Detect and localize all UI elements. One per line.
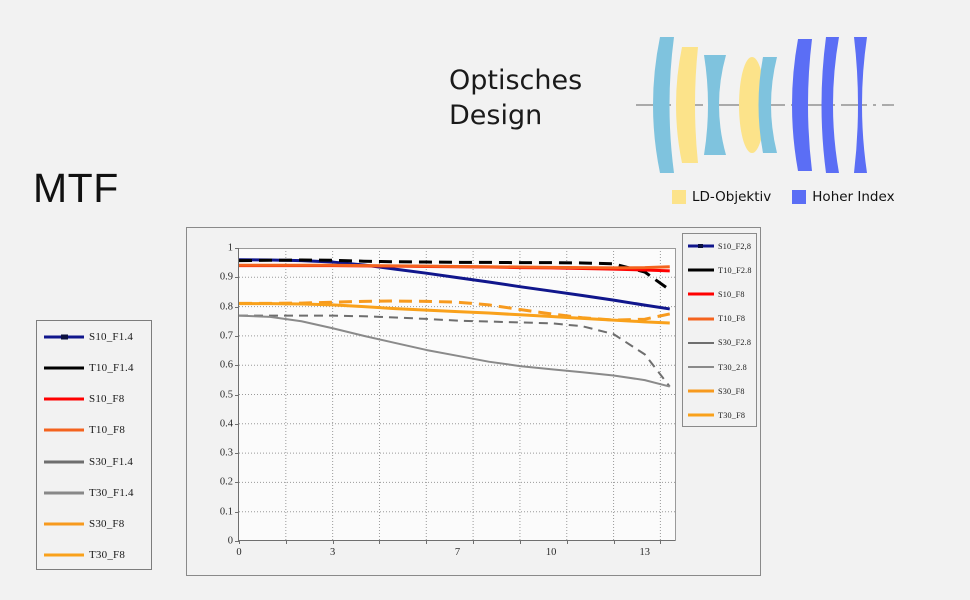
y-axis-tick-label: 0.1 [220, 506, 233, 517]
y-axis-tick-label: 0.3 [220, 448, 233, 459]
y-axis-tick-mark [235, 453, 239, 454]
legend-label: S10_F8 [89, 393, 124, 405]
y-axis-tick-mark [235, 395, 239, 396]
legend-chart-item[interactable]: S30_F8 [683, 379, 756, 403]
x-axis-tick-mark [614, 540, 615, 544]
series-t10-f8 [239, 265, 670, 268]
mtf-plot-area: 00.10.20.30.40.50.60.70.80.910371013 [238, 248, 675, 541]
slide-canvas: MTF OptischesDesign LD-Objektiv Hoher [0, 0, 970, 600]
legend-left-item[interactable]: S10_F1.4 [37, 321, 151, 352]
x-axis-tick-mark [239, 540, 240, 544]
legend-left-item[interactable]: S30_F1.4 [37, 446, 151, 477]
legend-label: T30_F8 [718, 411, 745, 420]
legend-left-item[interactable]: S30_F8 [37, 509, 151, 540]
lens-element-7 [822, 37, 840, 173]
x-axis-tick-label: 0 [236, 547, 241, 558]
grid-horizontal [239, 248, 676, 512]
y-axis-tick-mark [235, 365, 239, 366]
mtf-plot-wrapper: 00.10.20.30.40.50.60.70.80.910371013 [238, 248, 675, 541]
y-axis-tick-label: 1 [228, 243, 233, 254]
legend-label: T30_F1.4 [89, 487, 134, 499]
x-axis-tick-mark [567, 540, 568, 544]
legend-chart-item[interactable]: T10_F8 [683, 307, 756, 331]
legend-left-item[interactable]: T10_F8 [37, 415, 151, 446]
x-axis-tick-label: 3 [330, 547, 335, 558]
x-axis-tick-label: 13 [640, 547, 651, 558]
optical-lens-diagram [630, 25, 900, 185]
y-axis-tick-mark [235, 307, 239, 308]
x-axis-tick-mark [286, 540, 287, 544]
y-axis-tick-label: 0.4 [220, 418, 233, 429]
y-axis-tick-mark [235, 248, 239, 249]
legend-label: S30_F8 [89, 518, 124, 530]
x-axis-tick-mark [379, 540, 380, 544]
y-axis-tick-label: 0.5 [220, 389, 233, 400]
x-axis-tick-mark [473, 540, 474, 544]
legend-label: T30_F8 [89, 549, 125, 561]
mtf-legend-box-chart: S10_F2,8T10_F2.8S10_F8T10_F8S30_F2.8T30_… [682, 233, 757, 427]
legend-marker [61, 334, 68, 339]
legend-left-item[interactable]: T30_F1.4 [37, 477, 151, 508]
legend-label: T10_F8 [718, 314, 745, 323]
mtf-heading: MTF [33, 168, 119, 209]
legend-label: T10_F2.8 [718, 266, 752, 275]
legend-label: S30_F1.4 [89, 456, 133, 468]
legend-chart-item[interactable]: S10_F8 [683, 282, 756, 306]
x-axis-tick-mark [426, 540, 427, 544]
y-axis-tick-mark [235, 482, 239, 483]
legend-label: T30_2.8 [718, 363, 747, 372]
y-axis-tick-mark [235, 277, 239, 278]
legend-label: S10_F2,8 [718, 242, 751, 251]
x-axis-tick-label: 10 [546, 547, 557, 558]
optical-design-heading: OptischesDesign [449, 64, 649, 133]
y-axis-tick-label: 0.9 [220, 272, 233, 283]
lens-element-2 [676, 47, 698, 163]
ld-objektiv-swatch [672, 190, 686, 204]
y-axis-tick-mark [235, 541, 239, 542]
legend-marker [698, 244, 703, 248]
lens-material-legend: LD-Objektiv Hoher Index [672, 189, 895, 205]
mtf-chart-panel: 00.10.20.30.40.50.60.70.80.910371013 S10… [186, 227, 761, 576]
series-s30-f2-8 [239, 316, 670, 387]
legend-label: S30_F8 [718, 387, 745, 396]
legend-chart-item[interactable]: T10_F2.8 [683, 258, 756, 282]
legend-label: T10_F8 [89, 424, 125, 436]
y-axis-tick-label: 0.2 [220, 477, 233, 488]
x-axis-tick-label: 7 [455, 547, 460, 558]
x-axis-tick-mark [520, 540, 521, 544]
y-axis-tick-label: 0.7 [220, 330, 233, 341]
legend-label: S30_F2.8 [718, 338, 751, 347]
legend-chart-item[interactable]: T30_F8 [683, 403, 756, 427]
y-axis-tick-mark [235, 512, 239, 513]
y-axis-tick-mark [235, 424, 239, 425]
legend-left-item[interactable]: T30_F8 [37, 540, 151, 571]
x-axis-tick-mark [333, 540, 334, 544]
legend-left-item[interactable]: S10_F8 [37, 384, 151, 415]
legend-chart-item[interactable]: T30_2.8 [683, 355, 756, 379]
hoher-index-label: Hoher Index [812, 189, 894, 205]
y-axis-tick-mark [235, 336, 239, 337]
mtf-legend-box-left: S10_F1.4T10_F1.4S10_F8T10_F8S30_F1.4T30_… [36, 320, 152, 570]
legend-label: T10_F1.4 [89, 362, 134, 374]
hoher-index-swatch [792, 190, 806, 204]
legend-left-item[interactable]: T10_F1.4 [37, 352, 151, 383]
x-axis-tick-mark [660, 540, 661, 544]
legend-chart-item[interactable]: S30_F2.8 [683, 331, 756, 355]
legend-chart-item[interactable]: S10_F2,8 [683, 234, 756, 258]
y-axis-tick-label: 0 [228, 536, 233, 547]
y-axis-tick-label: 0.8 [220, 301, 233, 312]
y-axis-tick-label: 0.6 [220, 360, 233, 371]
ld-objektiv-label: LD-Objektiv [692, 189, 771, 205]
legend-label: S10_F8 [718, 290, 745, 299]
legend-label: S10_F1.4 [89, 331, 133, 343]
series-t30-2-8 [239, 316, 670, 387]
